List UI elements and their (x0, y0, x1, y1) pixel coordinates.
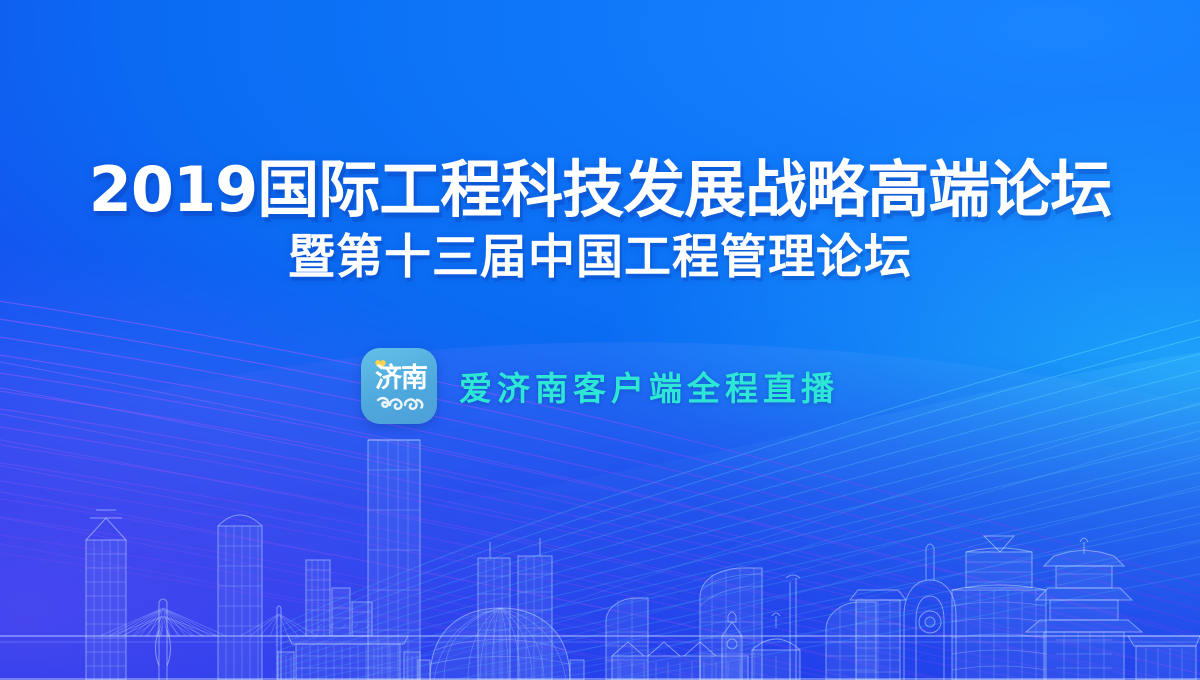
page-subtitle: 暨第十三届中国工程管理论坛 (0, 232, 1200, 284)
poster-canvas: 2019国际工程科技发展战略高端论坛 暨第十三届中国工程管理论坛 济南 (0, 0, 1200, 680)
svg-text:济南: 济南 (375, 363, 427, 394)
page-title: 2019国际工程科技发展战略高端论坛 (0, 158, 1200, 222)
title-block: 2019国际工程科技发展战略高端论坛 暨第十三届中国工程管理论坛 (0, 158, 1200, 284)
jinan-app-logo[interactable]: 济南 (361, 348, 437, 424)
broadcast-label: 爱济南客户端全程直播 (459, 362, 839, 410)
broadcast-row: 济南 爱济南客户端全程直播 (0, 348, 1200, 424)
poster-content: 2019国际工程科技发展战略高端论坛 暨第十三届中国工程管理论坛 济南 (0, 0, 1200, 680)
wave-motif (378, 398, 422, 409)
